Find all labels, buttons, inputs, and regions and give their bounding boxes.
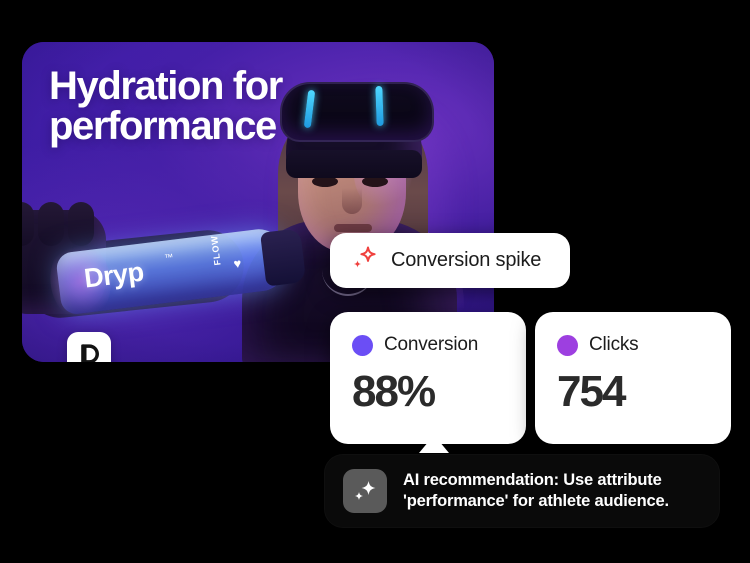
brand-logo-badge[interactable]	[67, 332, 111, 362]
screenshot-canvas: Dryp ™ FLOW ♥ Hydration for performance …	[0, 0, 750, 563]
callout-pointer	[419, 435, 449, 453]
metric-card-conversion[interactable]: Conversion 88%	[330, 312, 526, 444]
metric-header: Conversion	[352, 334, 504, 356]
brand-d-icon	[76, 341, 102, 362]
metric-header: Clicks	[557, 334, 709, 356]
ad-headline: Hydration for performance	[49, 67, 349, 146]
ai-sparkle-icon	[343, 469, 387, 513]
metric-card-clicks[interactable]: Clicks 754	[535, 312, 731, 444]
metric-label-conversion: Conversion	[384, 334, 478, 356]
ai-recommendation-banner[interactable]: AI recommendation: Use attribute 'perfor…	[325, 455, 719, 527]
metric-label-clicks: Clicks	[589, 334, 638, 356]
conversion-spike-pill[interactable]: Conversion spike	[330, 233, 570, 288]
metric-dot-conversion	[352, 335, 373, 356]
metric-value-conversion: 88%	[352, 370, 504, 414]
metric-dot-clicks	[557, 335, 578, 356]
ai-recommendation-text: AI recommendation: Use attribute 'perfor…	[403, 470, 701, 512]
conversion-spike-label: Conversion spike	[391, 249, 541, 272]
metric-value-clicks: 754	[557, 370, 709, 414]
sparkle-icon	[350, 244, 378, 277]
